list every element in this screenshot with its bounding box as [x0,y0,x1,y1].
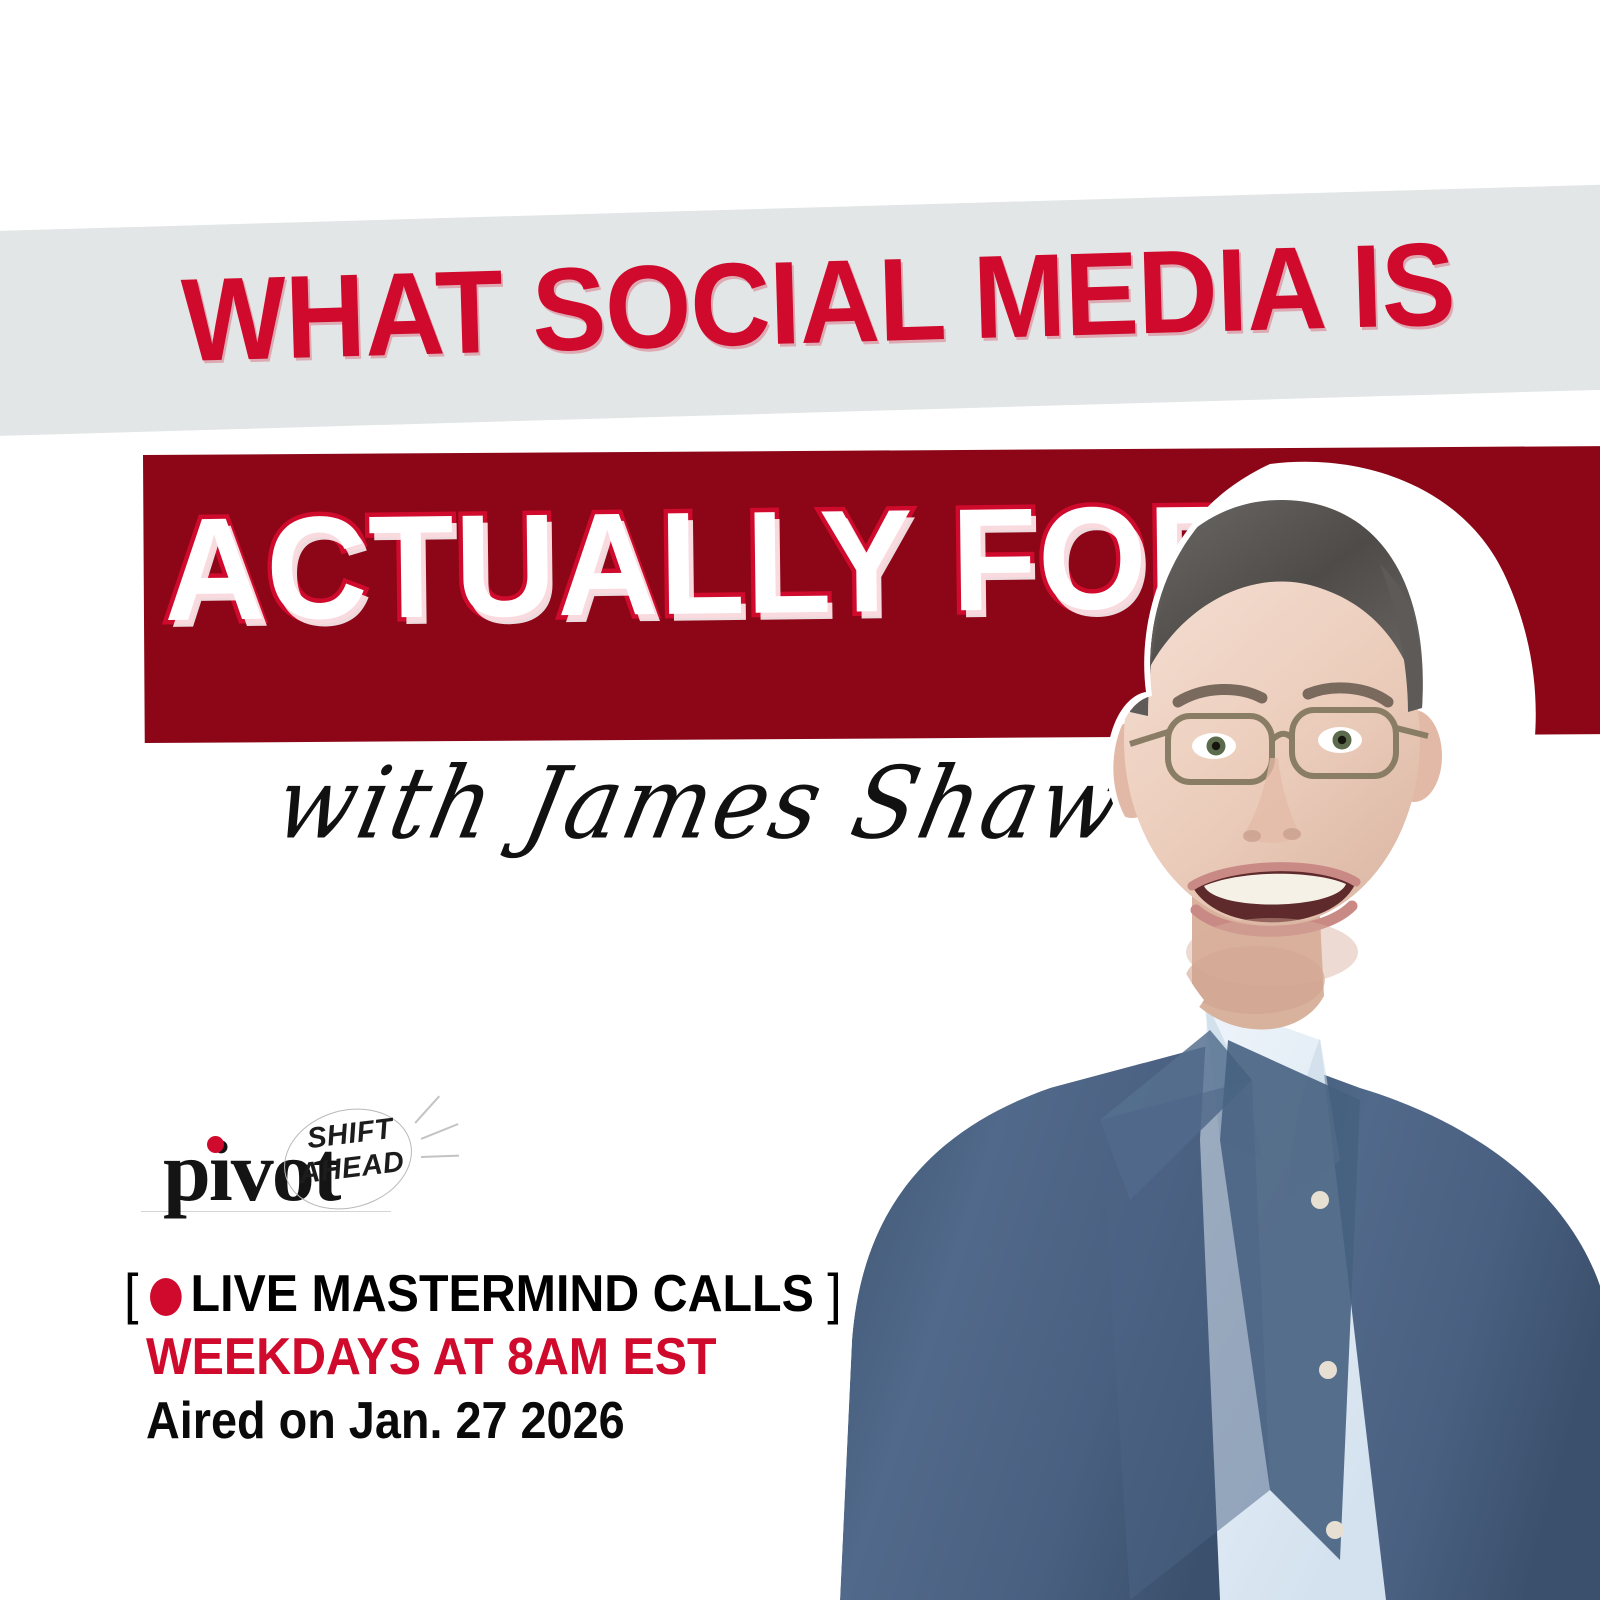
nostril-left [1243,830,1261,842]
logo-red-dot-icon [207,1136,224,1153]
nostril-right [1283,828,1301,840]
pivot-logo[interactable]: pivot SHIFT AHEAD [163,1108,483,1228]
shirt-button-3 [1326,1521,1344,1539]
shirt-button-2 [1319,1361,1337,1379]
pupil-left [1212,742,1220,750]
bracket-open: [ [124,1262,138,1325]
logo-ray-icon-2 [421,1123,459,1139]
schedule-line: WEEKDAYS AT 8AM EST [146,1331,717,1383]
live-dot-icon [150,1278,182,1316]
chin-shadow [1186,918,1358,986]
podcast-cover-canvas: WHAT SOCIAL MEDIA IS ACTUALLY FOR with J… [0,0,1600,1600]
live-calls-line: [LIVE MASTERMIND CALLS ] [124,1266,842,1322]
aired-date-line: Aired on Jan. 27 2026 [146,1395,625,1447]
pupil-right [1338,736,1346,744]
logo-ray-icon-1 [414,1095,439,1123]
bracket-close: ] [827,1262,841,1325]
host-portrait [800,440,1600,1600]
logo-ray-icon-3 [421,1155,459,1158]
shirt-button-1 [1311,1191,1329,1209]
live-calls-label: LIVE MASTERMIND CALLS [191,1265,814,1323]
